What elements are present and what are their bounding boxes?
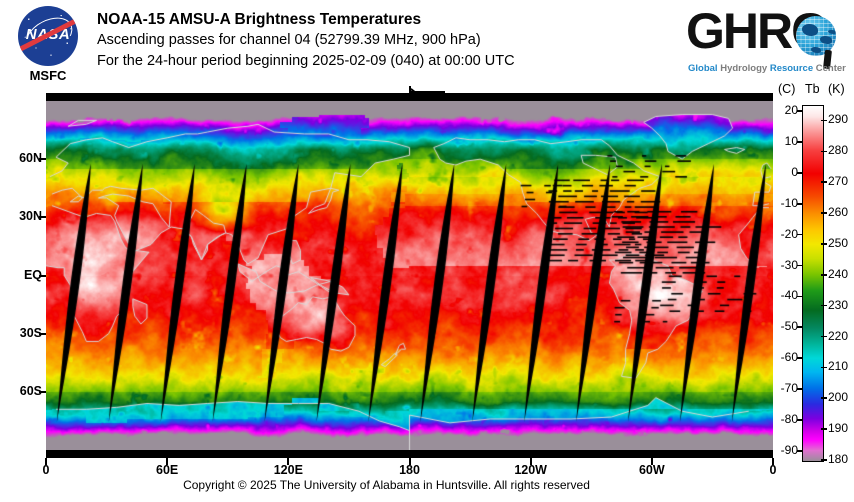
y-axis-label: 60N: [0, 151, 42, 165]
colorbar-label-celsius: 0: [760, 165, 798, 179]
colorbar-label-celsius: 20: [760, 103, 798, 117]
colorbar-label-kelvin: 220: [828, 329, 848, 343]
ghrc-tagline-word-0: Global: [688, 63, 718, 74]
x-axis-label: 60E: [145, 463, 189, 477]
copyright-notice: Copyright © 2025 The University of Alaba…: [0, 478, 773, 492]
colorbar-tick-kelvin: [821, 397, 827, 399]
colorbar-tick-kelvin: [821, 120, 827, 122]
figure-title-block: NOAA-15 AMSU-A Brightness Temperatures A…: [97, 9, 697, 72]
colorbar-label-kelvin: 240: [828, 267, 848, 281]
colorbar-label-celsius: -60: [760, 350, 798, 364]
colorbar-label-kelvin: 190: [828, 421, 848, 435]
brightness-temperature-map[interactable]: [46, 101, 773, 450]
noaa-brightness-temperature-figure: NASA MSFC NOAA-15 AMSU-A Brightness Temp…: [0, 0, 854, 502]
colorbar-label-celsius: -40: [760, 288, 798, 302]
colorbar-tick-kelvin: [821, 459, 827, 461]
colorbar-variable-label: Tb: [805, 82, 820, 96]
colorbar-label-kelvin: 230: [828, 298, 848, 312]
colorbar-label-kelvin: 200: [828, 390, 848, 404]
colorbar-tick-kelvin: [821, 243, 827, 245]
ghrc-tagline-word-3: Center: [816, 63, 846, 74]
colorbar-tick-kelvin: [821, 212, 827, 214]
colorbar-label-kelvin: 180: [828, 452, 848, 466]
title-subtitle-period: For the 24-hour period beginning 2025-02…: [97, 51, 697, 72]
nasa-msfc-logo: NASA MSFC: [8, 6, 88, 86]
x-axis-label: 0: [24, 463, 68, 477]
colorbar-label-kelvin: 290: [828, 112, 848, 126]
colorbar-tick-kelvin: [821, 305, 827, 307]
ghrc-tagline-word-2: Resource: [770, 63, 813, 74]
ghrc-tagline: Global Hydrology Resource Center: [688, 63, 846, 74]
colorbar-label-celsius: -20: [760, 227, 798, 241]
colorbar-tick-kelvin: [821, 336, 827, 338]
title-subtitle-channel: Ascending passes for channel 04 (52799.3…: [97, 30, 697, 51]
colorbar-label-celsius: -70: [760, 381, 798, 395]
ghrc-logo: GHRC Global Hydrology Resource Center: [686, 6, 846, 82]
x-axis-label: 120E: [266, 463, 310, 477]
y-axis-label: 60S: [0, 384, 42, 398]
colorbar-tick-kelvin: [821, 367, 827, 369]
page-title: NOAA-15 AMSU-A Brightness Temperatures: [97, 9, 697, 30]
colorbar-tick-kelvin: [821, 274, 827, 276]
x-axis-label: 180: [388, 463, 432, 477]
nasa-meatball-icon: NASA: [18, 6, 78, 66]
y-axis-label: EQ: [0, 268, 42, 282]
colorbar-label-celsius: -50: [760, 319, 798, 333]
colorbar-label-kelvin: 250: [828, 236, 848, 250]
map-data-raster: [46, 101, 773, 450]
colorbar-label-celsius: -10: [760, 196, 798, 210]
colorbar-gradient[interactable]: [802, 105, 824, 462]
colorbar-label-celsius: 10: [760, 134, 798, 148]
x-axis-label: 60W: [630, 463, 674, 477]
y-axis-label: 30N: [0, 209, 42, 223]
colorbar-unit-kelvin: (K): [828, 82, 845, 96]
colorbar-label-kelvin: 270: [828, 174, 848, 188]
colorbar-label-kelvin: 210: [828, 359, 848, 373]
ghrc-tagline-word-1: Hydrology: [720, 63, 767, 74]
map-plot-frame: [46, 93, 773, 458]
colorbar-tick-kelvin: [821, 151, 827, 153]
colorbar-label-celsius: -90: [760, 443, 798, 457]
colorbar-tick-kelvin: [821, 181, 827, 183]
nasa-center-label: MSFC: [8, 68, 88, 83]
colorbar-label-celsius: -80: [760, 412, 798, 426]
colorbar-tick-kelvin: [821, 428, 827, 430]
x-axis-label: 120W: [509, 463, 553, 477]
x-axis-label: 0: [751, 463, 795, 477]
colorbar-label-celsius: -30: [760, 258, 798, 272]
colorbar-unit-celsius: (C): [778, 82, 795, 96]
y-axis-label: 30S: [0, 326, 42, 340]
colorbar-label-kelvin: 260: [828, 205, 848, 219]
colorbar-label-kelvin: 280: [828, 143, 848, 157]
